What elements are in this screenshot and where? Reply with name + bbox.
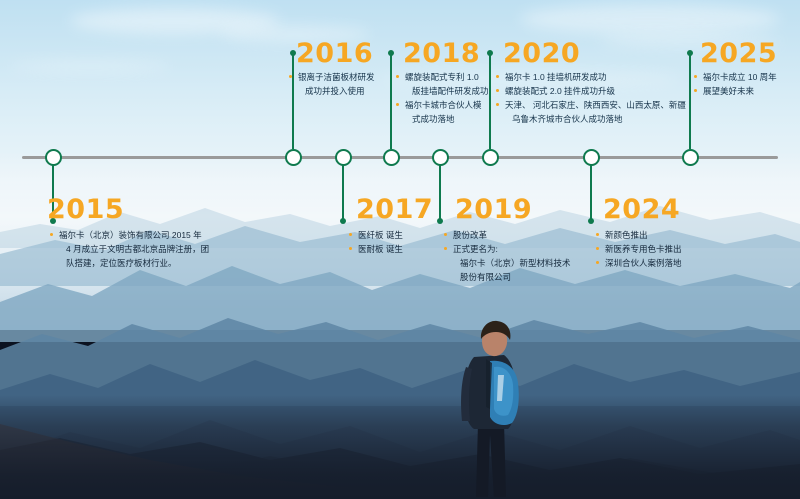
bullet-text: 医耐板 诞生	[358, 244, 403, 254]
bullet-text: 队搭建，定位医疗板材行业。	[59, 256, 209, 270]
timeline-infographic: 2015福尔卡（北京）装饰有限公司 2015 年4 月成立于文明古都北京品牌注册…	[0, 0, 800, 499]
bullet-text: 股份改革	[453, 230, 487, 240]
bullet-dot-icon	[496, 89, 499, 92]
bullet-item: 福尔卡 1.0 挂墙机研发成功	[496, 70, 686, 84]
timeline-node-2018[interactable]	[383, 149, 400, 166]
bullet-dot-icon	[50, 233, 53, 236]
bullet-continuation: 版挂墙配件研发成功	[396, 84, 489, 98]
timeline-bullet-list: 螺旋装配式专利 1.0版挂墙配件研发成功福尔卡城市合伙人模式成功落地	[396, 70, 489, 126]
bullet-text: 福尔卡（北京）装饰有限公司 2015 年	[59, 230, 202, 240]
bullet-dot-icon	[396, 103, 399, 106]
timeline-bullet-list: 福尔卡（北京）装饰有限公司 2015 年4 月成立于文明古都北京品牌注册，团队搭…	[50, 228, 209, 270]
bullet-item: 福尔卡成立 10 周年	[694, 70, 777, 84]
timeline-year-label: 2018	[403, 40, 480, 67]
bullet-item: 螺旋装配式 2.0 挂件成功升级	[496, 84, 686, 98]
timeline-bullet-list: 股份改革正式更名为:福尔卡（北京）新型材料技术股份有限公司	[444, 228, 571, 284]
bullet-text: 股份有限公司	[453, 270, 571, 284]
timeline-year-label: 2025	[700, 40, 777, 67]
bullet-text: 新颜色推出	[605, 230, 648, 240]
bullet-dot-icon	[496, 75, 499, 78]
cloud-wisp	[10, 60, 170, 72]
bullet-item: 螺旋装配式专利 1.0	[396, 70, 489, 84]
bullet-text: 乌鲁木齐城市合伙人成功落地	[505, 112, 686, 126]
timeline-bullet-list: 医纤板 诞生医耐板 诞生	[349, 228, 403, 256]
bullet-continuation: 4 月成立于文明古都北京品牌注册，团	[50, 242, 209, 256]
bullet-dot-icon	[694, 89, 697, 92]
bullet-text: 正式更名为:	[453, 244, 498, 254]
bullet-item: 医纤板 诞生	[349, 228, 403, 242]
hiker-silhouette	[430, 305, 550, 499]
timeline-stem-2018	[390, 53, 392, 149]
bullet-text: 银离子洁菌板材研发	[298, 72, 375, 82]
bullet-item: 深圳合伙人案例落地	[596, 256, 682, 270]
timeline-year-label: 2017	[356, 196, 433, 223]
timeline-node-2016[interactable]	[285, 149, 302, 166]
bullet-dot-icon	[596, 233, 599, 236]
bullet-dot-icon	[349, 247, 352, 250]
foreground-shadow	[0, 395, 800, 499]
bullet-dot-icon	[444, 247, 447, 250]
bullet-dot-icon	[596, 261, 599, 264]
timeline-year-label: 2016	[296, 40, 373, 67]
timeline-node-2019[interactable]	[432, 149, 449, 166]
bullet-continuation: 乌鲁木齐城市合伙人成功落地	[496, 112, 686, 126]
bullet-continuation: 股份有限公司	[444, 270, 571, 284]
timeline-bullet-list: 福尔卡 1.0 挂墙机研发成功螺旋装配式 2.0 挂件成功升级天津、 河北石家庄…	[496, 70, 686, 126]
timeline-stem-2024	[590, 163, 592, 221]
bullet-dot-icon	[444, 233, 447, 236]
bullet-item: 福尔卡城市合伙人模	[396, 98, 489, 112]
cloud-wisp	[520, 4, 780, 34]
timeline-bullet-list: 新颜色推出新医养专用色卡推出深圳合伙人案例落地	[596, 228, 682, 270]
bullet-continuation: 成功并投入使用	[289, 84, 375, 98]
bullet-text: 福尔卡成立 10 周年	[703, 72, 777, 82]
timeline-bullet-list: 银离子洁菌板材研发成功并投入使用	[289, 70, 375, 98]
bullet-item: 天津、 河北石家庄、陕西西安、山西太原、新疆	[496, 98, 686, 112]
bullet-continuation: 福尔卡（北京）新型材料技术	[444, 256, 571, 270]
bullet-item: 展望美好未来	[694, 84, 777, 98]
timeline-stem-2019	[439, 163, 441, 221]
timeline-node-2025[interactable]	[682, 149, 699, 166]
timeline-year-label: 2019	[455, 196, 532, 223]
bullet-text: 福尔卡城市合伙人模	[405, 100, 482, 110]
bullet-dot-icon	[596, 247, 599, 250]
bullet-text: 天津、 河北石家庄、陕西西安、山西太原、新疆	[505, 100, 686, 110]
bullet-item: 股份改革	[444, 228, 571, 242]
bullet-text: 式成功落地	[405, 112, 489, 126]
timeline-node-2024[interactable]	[583, 149, 600, 166]
timeline-stem-2020	[489, 53, 491, 149]
bullet-text: 深圳合伙人案例落地	[605, 258, 682, 268]
bullet-text: 福尔卡（北京）新型材料技术	[453, 256, 571, 270]
timeline-stem-2016	[292, 53, 294, 149]
timeline-node-2020[interactable]	[482, 149, 499, 166]
bullet-dot-icon	[694, 75, 697, 78]
bullet-text: 新医养专用色卡推出	[605, 244, 682, 254]
bullet-text: 4 月成立于文明古都北京品牌注册，团	[59, 242, 209, 256]
timeline-node-2015[interactable]	[45, 149, 62, 166]
timeline-year-label: 2024	[603, 196, 680, 223]
timeline-node-2017[interactable]	[335, 149, 352, 166]
bullet-text: 版挂墙配件研发成功	[405, 84, 489, 98]
timeline-stem-2025	[689, 53, 691, 149]
bullet-text: 螺旋装配式 2.0 挂件成功升级	[505, 86, 615, 96]
bullet-dot-icon	[289, 75, 292, 78]
timeline-stem-2017	[342, 163, 344, 221]
bullet-dot-icon	[349, 233, 352, 236]
bullet-text: 医纤板 诞生	[358, 230, 403, 240]
bullet-dot-icon	[496, 103, 499, 106]
bullet-text: 福尔卡 1.0 挂墙机研发成功	[505, 72, 607, 82]
bullet-item: 福尔卡（北京）装饰有限公司 2015 年	[50, 228, 209, 242]
bullet-item: 正式更名为:	[444, 242, 571, 256]
bullet-item: 医耐板 诞生	[349, 242, 403, 256]
bullet-continuation: 式成功落地	[396, 112, 489, 126]
bullet-text: 展望美好未来	[703, 86, 754, 96]
timeline-bullet-list: 福尔卡成立 10 周年展望美好未来	[694, 70, 777, 98]
timeline-year-label: 2020	[503, 40, 580, 67]
timeline-axis	[22, 156, 778, 159]
timeline-year-label: 2015	[47, 196, 124, 223]
bullet-item: 银离子洁菌板材研发	[289, 70, 375, 84]
bullet-text: 成功并投入使用	[298, 84, 375, 98]
bullet-item: 新颜色推出	[596, 228, 682, 242]
bullet-item: 新医养专用色卡推出	[596, 242, 682, 256]
bullet-continuation: 队搭建，定位医疗板材行业。	[50, 256, 209, 270]
bullet-text: 螺旋装配式专利 1.0	[405, 72, 479, 82]
bullet-dot-icon	[396, 75, 399, 78]
